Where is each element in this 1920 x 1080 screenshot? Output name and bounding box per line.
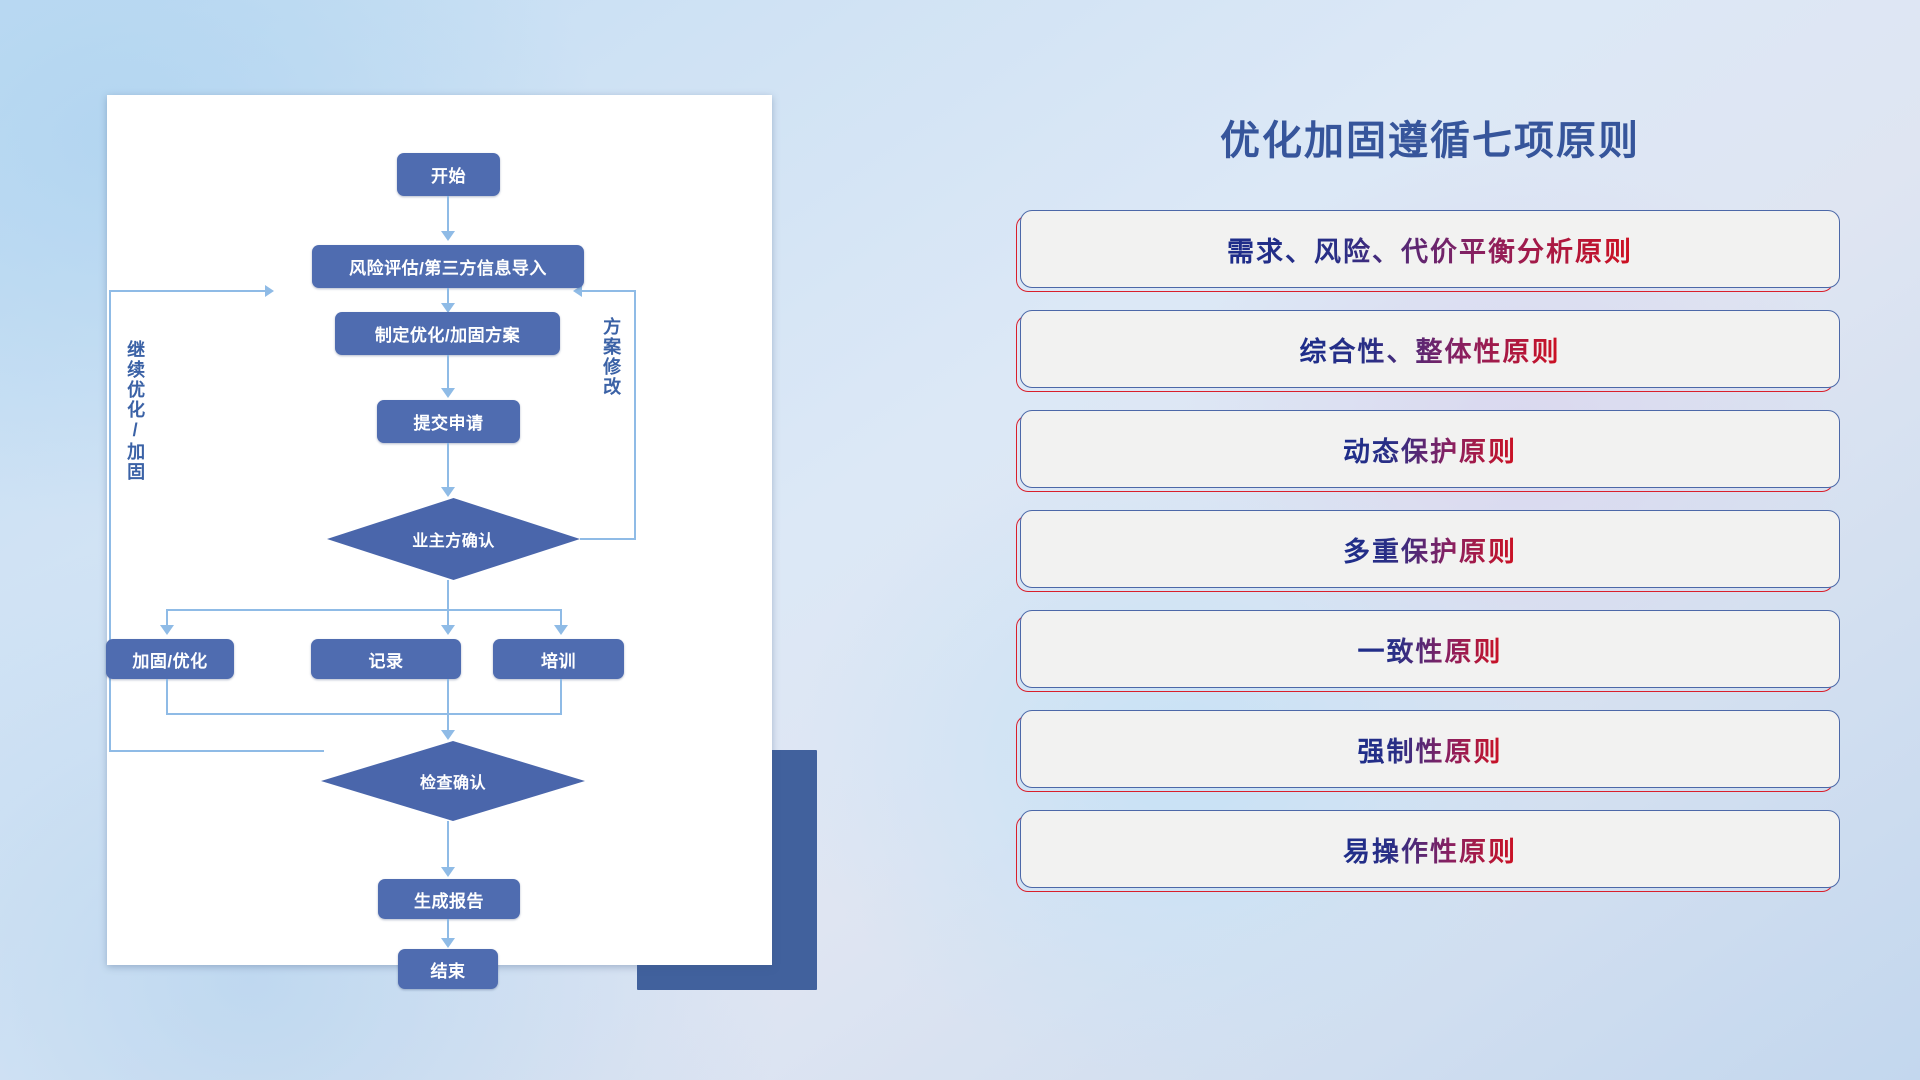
- right-loop-bottom-line: [580, 538, 636, 540]
- arrow-submit-to-owner-icon: [441, 487, 455, 497]
- flow-node-submit-application[interactable]: 提交申请: [377, 400, 520, 443]
- merge-left-riser: [166, 679, 168, 715]
- principles-card-list: 需求、风险、代价平衡分析原则 综合性、整体性原则 动态保护原则 多重保护原则 一…: [1020, 210, 1840, 888]
- flow-node-start-label: 开始: [431, 162, 466, 187]
- flow-node-risk-assessment-label: 风险评估/第三方信息导入: [349, 254, 547, 279]
- principles-panel-title: 优化加固遵循七项原则: [1020, 108, 1840, 166]
- flow-node-generate-report-label: 生成报告: [414, 887, 484, 912]
- right-loop-vertical-line: [634, 290, 636, 540]
- flow-node-training[interactable]: 培训: [493, 639, 624, 679]
- flow-node-training-label: 培训: [541, 647, 576, 672]
- merge-right-riser: [560, 679, 562, 715]
- flowchart-panel: 继续优化/加固 方案修改 开始 风险评估/第三方信息导入 制定优化/加固方案: [107, 95, 772, 965]
- flow-node-start[interactable]: 开始: [397, 153, 500, 196]
- flowchart-canvas: 继续优化/加固 方案修改 开始 风险评估/第三方信息导入 制定优化/加固方案: [107, 95, 772, 965]
- principle-card-2[interactable]: 综合性、整体性原则: [1020, 310, 1840, 388]
- principle-card-7[interactable]: 易操作性原则: [1020, 810, 1840, 888]
- flow-decision-owner-confirm[interactable]: 业主方确认: [327, 498, 580, 580]
- right-loop-top-line: [580, 290, 636, 292]
- arrow-check-to-report-icon: [441, 867, 455, 877]
- principle-card-2-label: 综合性、整体性原则: [1300, 330, 1561, 369]
- flow-node-record-label: 记录: [369, 647, 404, 672]
- left-loop-arrowhead-icon: [265, 285, 274, 297]
- principle-card-5[interactable]: 一致性原则: [1020, 610, 1840, 688]
- flow-node-submit-application-label: 提交申请: [414, 409, 484, 434]
- principle-card-7-label: 易操作性原则: [1343, 830, 1517, 869]
- left-loop-vertical-line: [109, 290, 111, 752]
- flow-node-reinforce-optimize[interactable]: 加固/优化: [106, 639, 234, 679]
- principle-card-4-label: 多重保护原则: [1343, 530, 1517, 569]
- flow-node-record[interactable]: 记录: [311, 639, 461, 679]
- arrow-plan-to-submit-icon: [441, 388, 455, 398]
- flow-node-make-plan-label: 制定优化/加固方案: [375, 321, 520, 346]
- flow-node-reinforce-optimize-label: 加固/优化: [132, 647, 207, 672]
- principle-card-5-label: 一致性原则: [1358, 630, 1503, 669]
- flow-node-generate-report[interactable]: 生成报告: [378, 879, 520, 919]
- left-loop-label: 继续优化/加固: [125, 340, 145, 482]
- merge-center-line: [447, 679, 449, 735]
- arrow-start-to-risk-icon: [441, 231, 455, 241]
- arrow-report-to-end-icon: [441, 938, 455, 948]
- arrow-branch-center-icon: [441, 625, 455, 635]
- arrow-branch-left-icon: [160, 625, 174, 635]
- flow-decision-owner-confirm-label: 业主方确认: [412, 527, 495, 551]
- principle-card-3-label: 动态保护原则: [1343, 430, 1517, 469]
- principle-card-6-label: 强制性原则: [1358, 730, 1503, 769]
- connector-owner-down: [447, 580, 449, 611]
- merge-horizontal-line: [166, 713, 562, 715]
- slide-canvas: 继续优化/加固 方案修改 开始 风险评估/第三方信息导入 制定优化/加固方案: [0, 0, 1920, 1080]
- flow-decision-inspection-confirm-label: 检查确认: [420, 769, 486, 793]
- flow-node-end[interactable]: 结束: [398, 949, 498, 989]
- principle-card-4[interactable]: 多重保护原则: [1020, 510, 1840, 588]
- arrow-merge-to-check-icon: [441, 730, 455, 740]
- principle-card-1[interactable]: 需求、风险、代价平衡分析原则: [1020, 210, 1840, 288]
- left-loop-bottom-line: [109, 750, 324, 752]
- principle-card-3[interactable]: 动态保护原则: [1020, 410, 1840, 488]
- flow-node-end-label: 结束: [431, 957, 466, 982]
- right-loop-label: 方案修改: [601, 317, 621, 397]
- arrow-branch-right-icon: [554, 625, 568, 635]
- flow-node-make-plan[interactable]: 制定优化/加固方案: [335, 312, 560, 355]
- principle-card-6[interactable]: 强制性原则: [1020, 710, 1840, 788]
- flow-decision-inspection-confirm[interactable]: 检查确认: [321, 741, 585, 821]
- principles-panel: 优化加固遵循七项原则 需求、风险、代价平衡分析原则 综合性、整体性原则 动态保护…: [1020, 90, 1840, 1020]
- left-loop-top-line: [109, 290, 269, 292]
- principle-card-1-label: 需求、风险、代价平衡分析原则: [1227, 230, 1633, 269]
- flow-node-risk-assessment[interactable]: 风险评估/第三方信息导入: [312, 245, 584, 288]
- branch-split-horizontal-line: [166, 609, 562, 611]
